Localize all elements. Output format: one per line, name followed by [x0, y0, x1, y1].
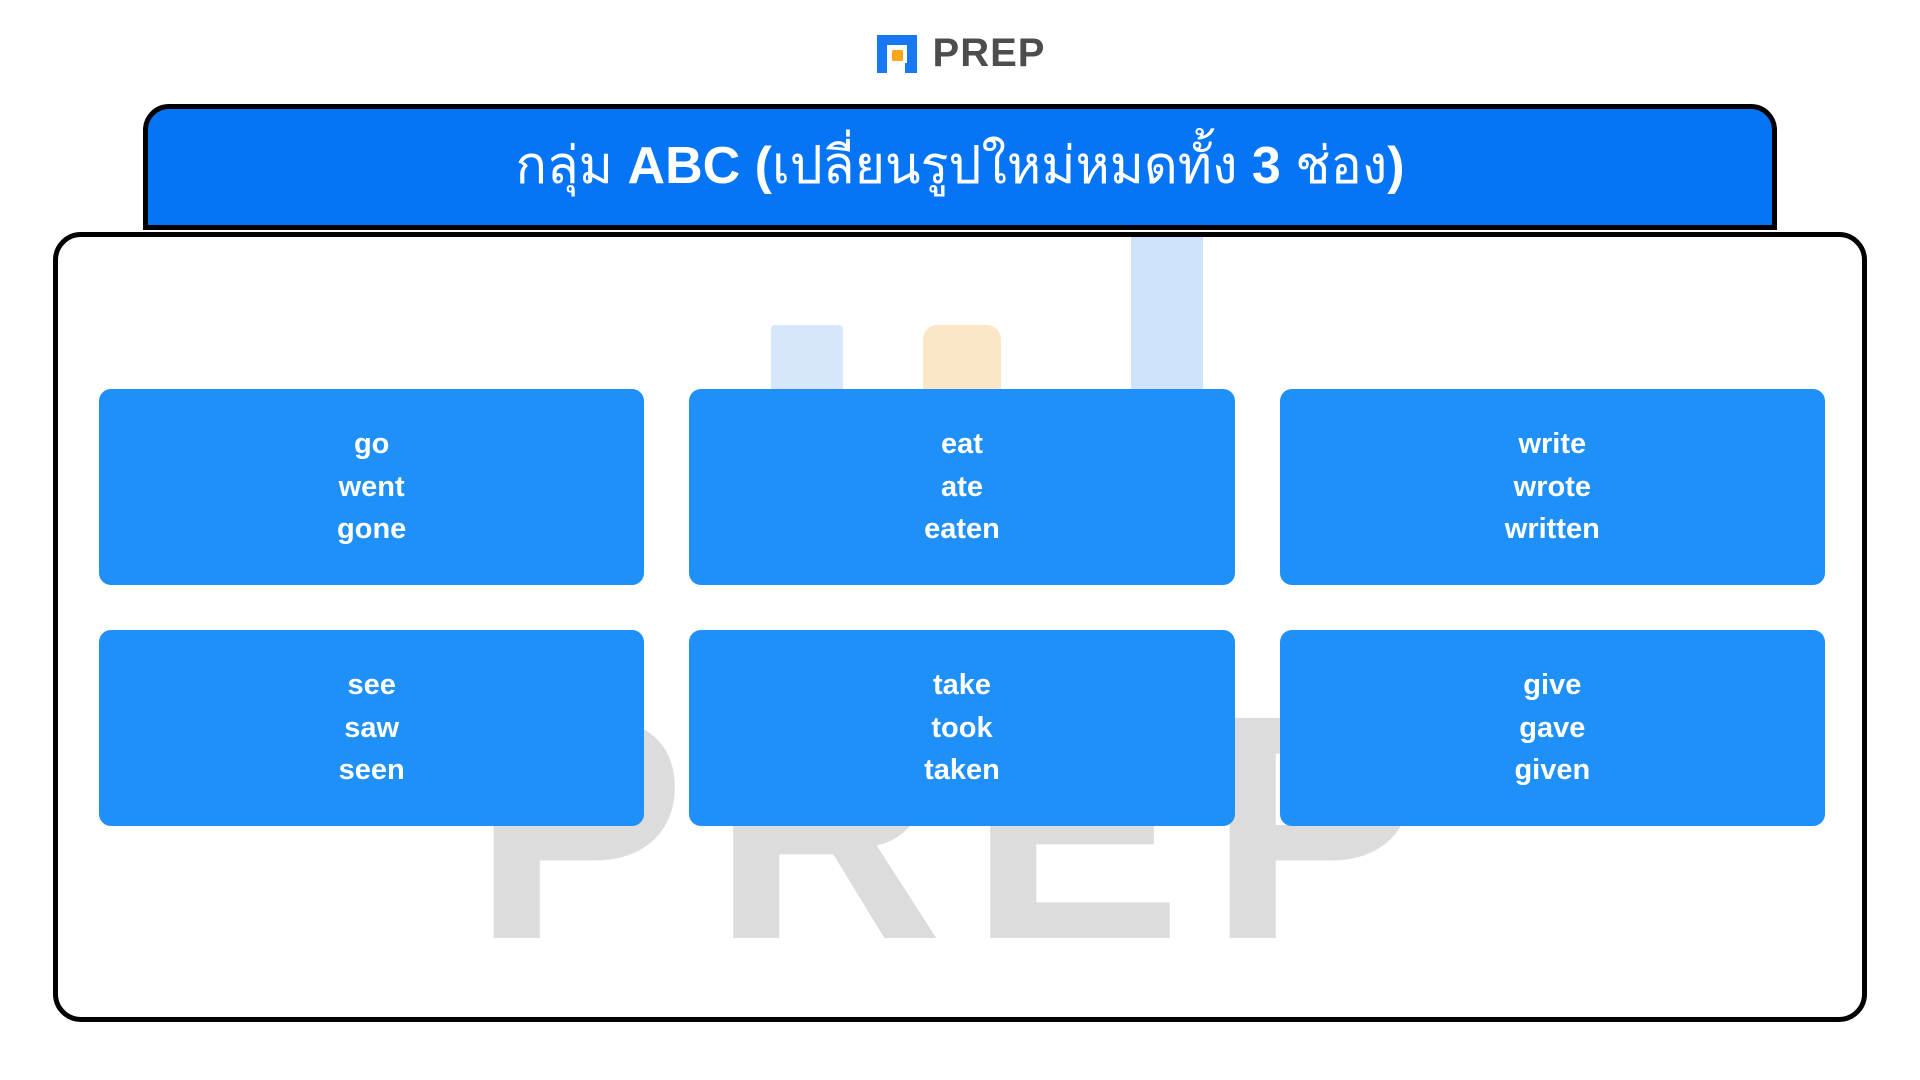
verb-card-go[interactable]: go went gone — [99, 389, 644, 585]
title-abc: ABC ( — [628, 137, 772, 195]
verb-card-see[interactable]: see saw seen — [99, 630, 644, 826]
verb-base: eat — [941, 423, 983, 466]
verb-past: took — [931, 707, 992, 750]
verb-card-grid: go went gone eat ate eaten write wrote w… — [99, 389, 1825, 826]
verb-past: saw — [344, 707, 399, 750]
verb-past: went — [339, 466, 405, 509]
verb-participle: seen — [339, 749, 405, 792]
title-close-paren: ) — [1387, 137, 1404, 195]
header-banner: กลุ่ม ABC (เปลี่ยนรูปใหม่หมดทั้ง 3 ช่อง) — [143, 104, 1777, 230]
title-middle: เปลี่ยนรูปใหม่หมดทั้ง — [772, 137, 1252, 195]
verb-base: take — [933, 664, 991, 707]
verb-base: give — [1523, 664, 1581, 707]
verb-past: ate — [941, 466, 983, 509]
page-root: PREP กลุ่ม ABC (เปลี่ยนรูปใหม่หมดทั้ง 3 … — [0, 0, 1920, 1080]
verb-participle: given — [1514, 749, 1590, 792]
verb-past: wrote — [1514, 466, 1591, 509]
verb-past: gave — [1519, 707, 1585, 750]
brand-name: PREP — [933, 33, 1046, 73]
verb-participle: taken — [924, 749, 1000, 792]
verb-participle: written — [1505, 508, 1600, 551]
prep-logo-icon — [875, 31, 919, 75]
verb-base: see — [347, 664, 395, 707]
verb-base: go — [354, 423, 389, 466]
verb-participle: gone — [337, 508, 406, 551]
verb-card-write[interactable]: write wrote written — [1280, 389, 1825, 585]
page-title: กลุ่ม ABC (เปลี่ยนรูปใหม่หมดทั้ง 3 ช่อง) — [515, 137, 1404, 197]
title-prefix: กลุ่ม — [515, 137, 627, 195]
content-panel: PREP go went gone eat ate eaten write wr… — [53, 232, 1867, 1022]
verb-card-eat[interactable]: eat ate eaten — [689, 389, 1234, 585]
verb-base: write — [1518, 423, 1586, 466]
verb-card-give[interactable]: give gave given — [1280, 630, 1825, 826]
verb-card-take[interactable]: take took taken — [689, 630, 1234, 826]
title-number: 3 — [1252, 137, 1281, 195]
brand-header: PREP — [0, 24, 1920, 82]
title-suffix: ช่อง — [1281, 137, 1387, 195]
verb-participle: eaten — [924, 508, 1000, 551]
